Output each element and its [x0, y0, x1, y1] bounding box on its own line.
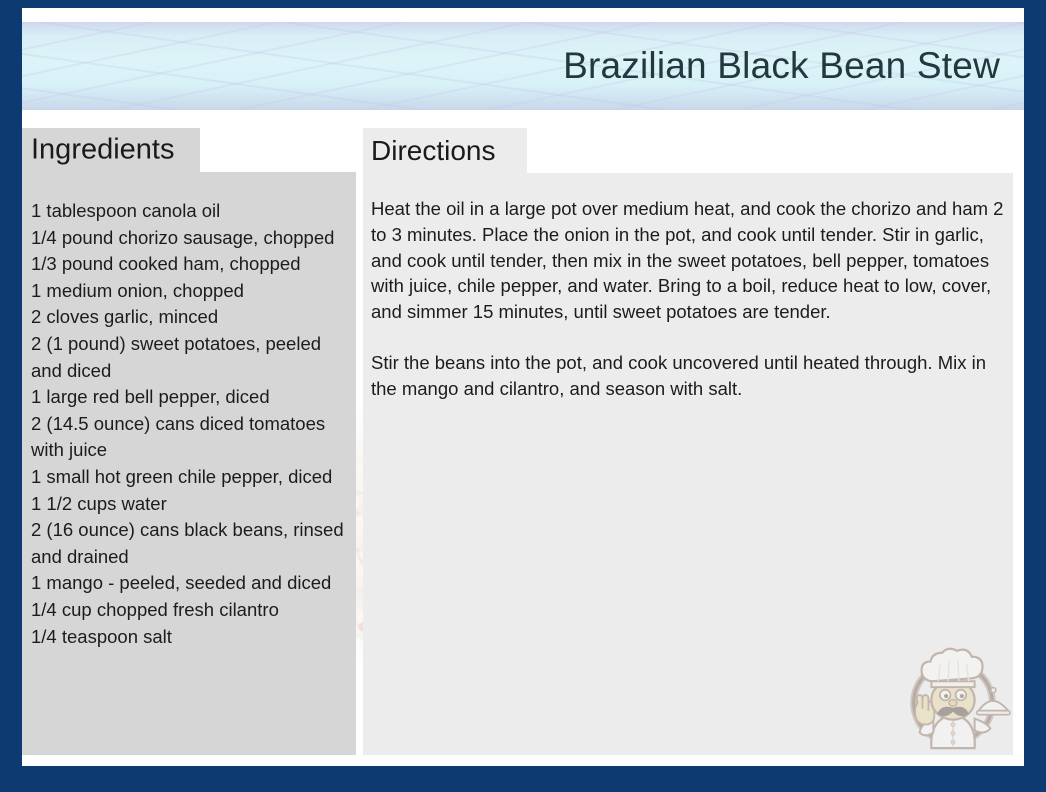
recipe-card: Brazilian Black Bean Stew Ingredients 1 …: [22, 8, 1024, 766]
ingredient-item: 2 (14.5 ounce) cans diced tomatoes with …: [31, 411, 349, 464]
ingredients-panel: 1 tablespoon canola oil1/4 pound chorizo…: [22, 172, 356, 755]
header-banner: Brazilian Black Bean Stew: [22, 22, 1024, 110]
ingredients-list: 1 tablespoon canola oil1/4 pound chorizo…: [31, 198, 349, 650]
ingredient-item: 1 mango - peeled, seeded and diced: [31, 570, 349, 597]
ingredient-item: 1 medium onion, chopped: [31, 278, 349, 305]
ingredient-item: 1/4 teaspoon salt: [31, 624, 349, 651]
ingredient-item: 2 (1 pound) sweet potatoes, peeled and d…: [31, 331, 349, 384]
ingredient-item: 2 (16 ounce) cans black beans, rinsed an…: [31, 517, 349, 570]
directions-body: Heat the oil in a large pot over medium …: [371, 196, 1007, 402]
ingredient-item: 1 small hot green chile pepper, diced: [31, 464, 349, 491]
ingredient-item: 1 large red bell pepper, diced: [31, 384, 349, 411]
direction-paragraph: Stir the beans into the pot, and cook un…: [371, 350, 1007, 402]
photo-herb: [356, 479, 360, 494]
directions-heading: Directions: [371, 135, 495, 167]
recipe-card-frame: Brazilian Black Bean Stew Ingredients 1 …: [0, 0, 1046, 792]
directions-tab: Directions: [363, 128, 527, 173]
ingredients-tab: Ingredients: [22, 128, 200, 172]
ingredient-item: 1 1/2 cups water: [31, 491, 349, 518]
direction-paragraph: Heat the oil in a large pot over medium …: [371, 196, 1007, 325]
ingredient-item: 1/4 cup chopped fresh cilantro: [31, 597, 349, 624]
page-title: Brazilian Black Bean Stew: [563, 45, 1000, 87]
ingredient-item: 1 tablespoon canola oil: [31, 198, 349, 225]
ingredient-item: 1/3 pound cooked ham, chopped: [31, 251, 349, 278]
ingredient-item: 1/4 pound chorizo sausage, chopped: [31, 225, 349, 252]
ingredients-heading: Ingredients: [31, 134, 175, 167]
ingredient-item: 2 cloves garlic, minced: [31, 304, 349, 331]
photo-herb: [356, 517, 362, 527]
directions-panel: Heat the oil in a large pot over medium …: [363, 173, 1013, 755]
